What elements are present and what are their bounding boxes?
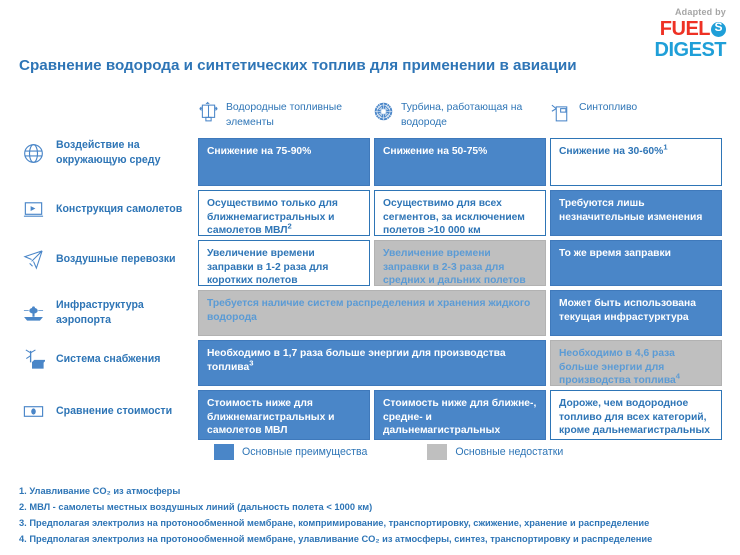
cell-text: Увеличение времени заправки в 1-2 раза д…	[207, 248, 328, 286]
globe-icon	[22, 142, 45, 165]
row-label-text: Конструкция самолетов	[56, 202, 182, 217]
cell-text: Снижение на 75-90%	[207, 146, 311, 157]
matrix-cell-r4c1-2: Требуется наличие систем распределения и…	[198, 290, 546, 336]
fuel-cell-icon	[198, 101, 219, 125]
matrix-cell-r1c3: Снижение на 30-60%1	[550, 138, 722, 186]
page-title: Сравнение водорода и синтетических топли…	[19, 57, 577, 74]
legend: Основные преимущества Основные недостатк…	[214, 444, 563, 460]
cell-text: Осуществимо для всех сегментов, за исклю…	[383, 198, 525, 236]
logo-adapted-by-text: Adapted by	[655, 8, 726, 17]
cell-text: Стоимость ниже для ближнемагистральных и…	[207, 398, 335, 436]
column-header-hydrogen-turbine: Турбина, работающая на водороде	[373, 101, 541, 131]
synthetic-fuel-canister-icon	[551, 101, 572, 125]
matrix-cell-r3c2: Увеличение времени заправки в 2-3 раза д…	[374, 240, 546, 286]
matrix-cell-r1c1: Снижение на 75-90%	[198, 138, 370, 186]
cell-text: Требуется наличие систем распределения и…	[207, 298, 530, 323]
footnote-ref: 2	[287, 222, 291, 231]
legend-label: Основные недостатки	[455, 446, 563, 458]
turbine-icon	[373, 101, 394, 125]
column-header-label: Синтопливо	[579, 101, 637, 116]
airplane-icon	[22, 248, 45, 271]
row-label-supply-system: Система снабжения	[22, 348, 198, 371]
cell-text: Дороже, чем водородное топливо для всех …	[559, 398, 710, 440]
cell-text: То же время заправки	[559, 248, 671, 259]
row-label-text: Воздушные перевозки	[56, 252, 176, 267]
row-label-text: Сравнение стоимости	[56, 404, 172, 419]
matrix-cell-r2c1: Осуществимо только для ближнемагистральн…	[198, 190, 370, 236]
footnote-3: 3. Предполагая электролиз на протонообме…	[19, 516, 729, 532]
cell-text: Снижение на 30-60%	[559, 146, 663, 157]
cell-text: Необходимо в 4,6 раза больше энергии для…	[559, 348, 676, 386]
matrix-cell-r1c2: Снижение на 50-75%	[374, 138, 546, 186]
supply-system-icon	[22, 348, 45, 371]
legend-item-disadvantages: Основные недостатки	[427, 444, 563, 460]
legend-label: Основные преимущества	[242, 446, 367, 458]
footnote-ref: 4	[676, 372, 680, 381]
aircraft-design-icon	[22, 198, 45, 221]
legend-swatch-gray	[427, 444, 447, 460]
legend-swatch-blue	[214, 444, 234, 460]
row-label-environment: Воздействие на окружающую среду	[22, 138, 198, 169]
logo-fuel-text: FUEL	[660, 19, 710, 39]
matrix-cell-r3c1: Увеличение времени заправки в 1-2 раза д…	[198, 240, 370, 286]
column-header-label: Турбина, работающая на водороде	[401, 101, 541, 131]
matrix-cell-r2c3: Требуются лишь незначительные изменения	[550, 190, 722, 236]
footnote-1: 1. Улавливание CO₂ из атмосферы	[19, 484, 729, 500]
cell-text: Увеличение времени заправки в 2-3 раза д…	[383, 248, 526, 286]
footnote-ref: 3	[249, 358, 253, 367]
matrix-cell-r6c3: Дороже, чем водородное топливо для всех …	[550, 390, 722, 440]
swirl-s-icon	[711, 22, 726, 37]
cell-text: Требуются лишь незначительные изменения	[559, 198, 702, 223]
row-label-aircraft-design: Конструкция самолетов	[22, 198, 198, 221]
row-label-text: Система снабжения	[56, 352, 160, 367]
cell-text: Снижение на 50-75%	[383, 146, 487, 157]
cell-text: Может быть использована текущая инфрасту…	[559, 298, 696, 323]
airport-infrastructure-icon	[22, 302, 45, 325]
matrix-cell-r5c3: Необходимо в 4,6 раза больше энергии для…	[550, 340, 722, 386]
matrix-cell-r3c3: То же время заправки	[550, 240, 722, 286]
legend-item-advantages: Основные преимущества	[214, 444, 367, 460]
matrix-cell-r6c1: Стоимость ниже для ближнемагистральных и…	[198, 390, 370, 440]
footnote-ref: 1	[663, 143, 667, 152]
brand-logo: Adapted by FUEL DIGEST	[655, 8, 726, 60]
cell-text: Стоимость ниже для ближне-, средне- и да…	[383, 398, 536, 440]
column-header-label: Водородные топливные элементы	[226, 101, 366, 131]
logo-digest-text: DIGEST	[655, 40, 726, 60]
footnotes: 1. Улавливание CO₂ из атмосферы 2. МВЛ -…	[19, 484, 729, 548]
row-label-air-transport: Воздушные перевозки	[22, 248, 198, 271]
row-label-text: Инфраструктура аэропорта	[56, 298, 198, 329]
column-header-hydrogen-fuel-cells: Водородные топливные элементы	[198, 101, 366, 131]
matrix-cell-r6c2: Стоимость ниже для ближне-, средне- и да…	[374, 390, 546, 440]
row-label-cost-comparison: Сравнение стоимости	[22, 400, 198, 423]
row-label-airport-infrastructure: Инфраструктура аэропорта	[22, 298, 198, 329]
matrix-cell-r2c2: Осуществимо для всех сегментов, за исклю…	[374, 190, 546, 236]
matrix-cell-r4c3: Может быть использована текущая инфрасту…	[550, 290, 722, 336]
matrix-cell-r5c1-2: Необходимо в 1,7 раза больше энергии для…	[198, 340, 546, 386]
footnote-2: 2. МВЛ - самолеты местных воздушных лини…	[19, 500, 729, 516]
banknote-icon	[22, 400, 45, 423]
row-label-text: Воздействие на окружающую среду	[56, 138, 198, 169]
footnote-4: 4. Предполагая электролиз на протонообме…	[19, 532, 729, 548]
logo-fuel-row: FUEL	[655, 19, 726, 39]
column-header-synthetic-fuel: Синтопливо	[551, 101, 637, 125]
cell-text: Осуществимо только для ближнемагистральн…	[207, 198, 338, 236]
